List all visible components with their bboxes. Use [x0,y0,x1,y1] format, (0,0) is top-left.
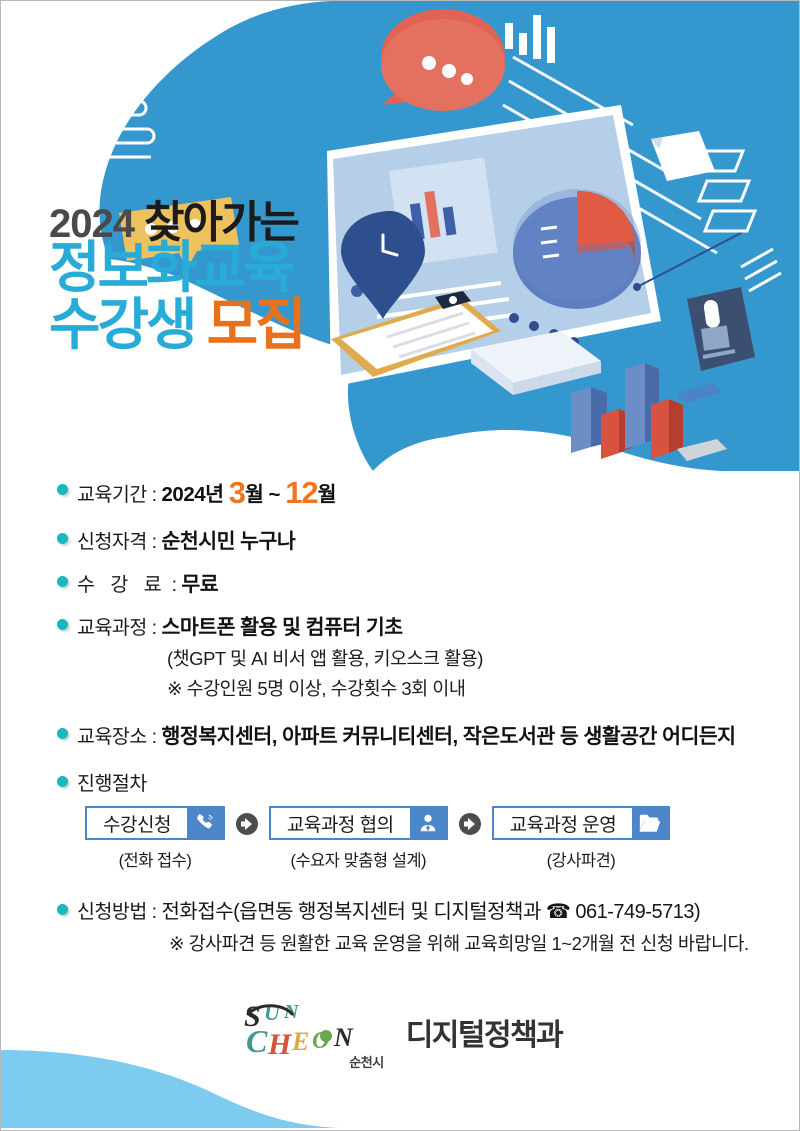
title-students: 수강생 [49,293,195,356]
bullet-icon [57,728,68,739]
process-step-3[interactable]: 교육과정 운영 (강사파견) [492,806,671,871]
apply-separator: : [147,901,162,923]
detail-row-location: 교육장소 : 행정복지센터, 아파트 커뮤니티센터, 작은도서관 등 생활공간 … [57,719,787,749]
details-list: 교육기간 : 2024년 3월 ~ 12월 신청자격 : 순천시민 누구나 수 … [57,475,787,969]
bullet-icon [57,904,68,915]
title-line-one: 2024찾아가는 [49,223,379,237]
period-separator: : [147,484,162,506]
process-flow: 수강신청 (전화 접수) [57,806,787,871]
curriculum-value: 스마트폰 활용 및 컴퓨터 기초 [162,616,403,639]
apply-label: 신청방법 [77,901,147,923]
process-step-2-label: 교육과정 협의 [271,808,410,838]
detail-row-eligibility: 신청자격 : 순천시민 누구나 [57,524,787,554]
title-main: 정보화교육 [49,236,292,299]
bullet-icon [57,533,68,544]
process-step-2-caption: (수요자 맞춤형 설계) [269,847,448,871]
eligibility-label: 신청자격 [77,531,147,553]
period-label: 교육기간 [77,484,147,506]
arrow-right-circle-icon [458,806,482,841]
poster-title: 2024찾아가는 정보화교육 수강생모집 [49,223,379,353]
process-step-1-caption: (전화 접수) [85,847,225,871]
process-step-3-caption: (강사파견) [492,847,671,871]
pie-chart-icon [513,189,641,309]
apply-note: ※ 강사파견 등 원활한 교육 운영을 위해 교육희망일 1~2개월 전 신청 … [77,930,787,956]
curriculum-separator: : [147,617,162,639]
curriculum-label: 교육과정 [77,617,147,639]
folder-icon [632,808,668,838]
bottom-wave-decoration [1,1044,800,1130]
period-suffix: 월 [318,483,336,506]
apply-text: 전화접수(읍면동 행정복지센터 및 디지털정책과 [162,901,546,923]
title-recruit: 모집 [207,293,304,356]
title-line-three: 수강생모집 [49,296,379,353]
svg-text:U: U [264,1000,281,1025]
period-mid: 월 ~ [245,483,285,506]
location-separator: : [147,726,162,748]
process-step-3-label: 교육과정 운영 [494,808,633,838]
fee-separator: : [167,574,182,596]
bullet-icon [57,776,68,787]
location-label: 교육장소 [77,726,147,748]
title-line-two: 정보화교육 [49,239,379,296]
detail-row-period: 교육기간 : 2024년 3월 ~ 12월 [57,475,787,511]
arrow-right-circle-icon [235,806,259,841]
curriculum-note-one: (챗GPT 및 AI 비서 앱 활용, 키오스크 활용) [77,645,787,671]
process-step-1[interactable]: 수강신청 (전화 접수) [85,806,225,871]
fee-value: 무료 [181,573,218,596]
detail-row-curriculum: 교육과정 : 스마트폰 활용 및 컴퓨터 기초 (챗GPT 및 AI 비서 앱 … [57,610,787,701]
eligibility-separator: : [147,531,162,553]
detail-row-apply: 신청방법 : 전화접수(읍면동 행정복지센터 및 디지털정책과 ☎ 061-74… [57,895,787,956]
detail-row-process: 진행절차 [57,767,787,796]
person-icon [410,808,446,838]
process-step-1-label: 수강신청 [87,808,187,838]
period-start-month: 3 [229,475,245,510]
detail-row-fee: 수 강 료 : 무료 [57,567,787,597]
period-year: 2024년 [162,483,229,506]
eligibility-value: 순천시민 누구나 [162,530,296,553]
bullet-icon [57,619,68,630]
process-heading: 진행절차 [77,773,147,795]
period-end-month: 12 [285,475,317,510]
bullet-icon [57,576,68,587]
phone-icon [187,808,223,838]
bullet-icon [57,484,68,495]
fee-label: 수 강 료 [77,574,167,596]
apply-phone-number: 061-749-5713) [570,901,700,923]
location-value: 행정복지센터, 아파트 커뮤니티센터, 작은도서관 등 생활공간 어디든지 [162,725,736,748]
telephone-icon: ☎ [546,901,570,923]
poster-root: 2024찾아가는 정보화교육 수강생모집 교육기간 : 2024년 3월 ~ 1… [0,0,800,1131]
curriculum-note-two: ※ 수강인원 5명 이상, 수강횟수 3회 이내 [77,675,787,701]
speech-bubble-red-icon [381,9,505,111]
process-step-2[interactable]: 교육과정 협의 (수요자 맞춤형 설계) [269,806,448,871]
